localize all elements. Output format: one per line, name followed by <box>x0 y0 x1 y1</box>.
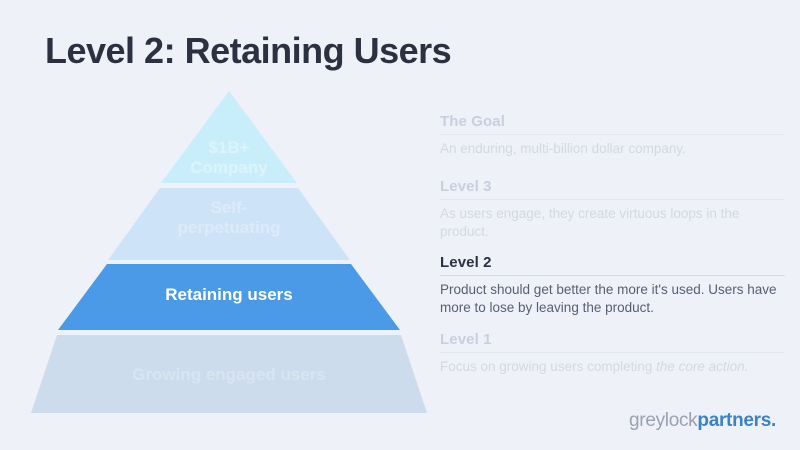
growth-pyramid: $1B+ Company Self- perpetuating Retainin… <box>0 0 460 450</box>
pyramid-tier-level2[interactable] <box>58 264 400 330</box>
logo-secondary-text: partners. <box>697 410 776 431</box>
detail-body: As users engage, they create virtuous lo… <box>440 205 785 241</box>
detail-heading: Level 3 <box>440 178 785 199</box>
detail-heading: Level 2 <box>440 254 785 275</box>
detail-body-text: Focus on growing users completing <box>440 359 656 374</box>
pyramid-tier-level1[interactable] <box>31 335 427 413</box>
detail-divider <box>440 352 785 353</box>
detail-divider <box>440 134 785 135</box>
detail-block-level1: Level 1 Focus on growing users completin… <box>440 331 785 376</box>
detail-block-goal: The Goal An enduring, multi-billion doll… <box>440 113 785 158</box>
detail-body: An enduring, multi-billion dollar compan… <box>440 140 785 158</box>
detail-body-emphasis: the core action. <box>656 359 748 374</box>
detail-body-text: As users engage, they create virtuous lo… <box>440 206 739 239</box>
pyramid-shapes <box>0 0 460 450</box>
logo-primary-text: greylock <box>629 410 697 431</box>
detail-body: Product should get better the more it's … <box>440 281 785 317</box>
pyramid-tier-level3[interactable] <box>108 188 350 260</box>
detail-divider <box>440 275 785 276</box>
detail-body-text: An enduring, multi-billion dollar compan… <box>440 141 686 156</box>
detail-divider <box>440 199 785 200</box>
slide-canvas: Level 2: Retaining Users $1B+ Company Se… <box>0 0 800 450</box>
detail-body: Focus on growing users completing the co… <box>440 358 785 376</box>
detail-heading: Level 1 <box>440 331 785 352</box>
detail-block-level3: Level 3 As users engage, they create vir… <box>440 178 785 241</box>
detail-heading: The Goal <box>440 113 785 134</box>
detail-body-text: Product should get better the more it's … <box>440 282 777 315</box>
detail-column: The Goal An enduring, multi-billion doll… <box>440 113 785 390</box>
greylock-partners-logo: greylockpartners. <box>629 410 776 432</box>
pyramid-tier-goal[interactable] <box>161 91 297 183</box>
detail-block-level2: Level 2 Product should get better the mo… <box>440 254 785 317</box>
